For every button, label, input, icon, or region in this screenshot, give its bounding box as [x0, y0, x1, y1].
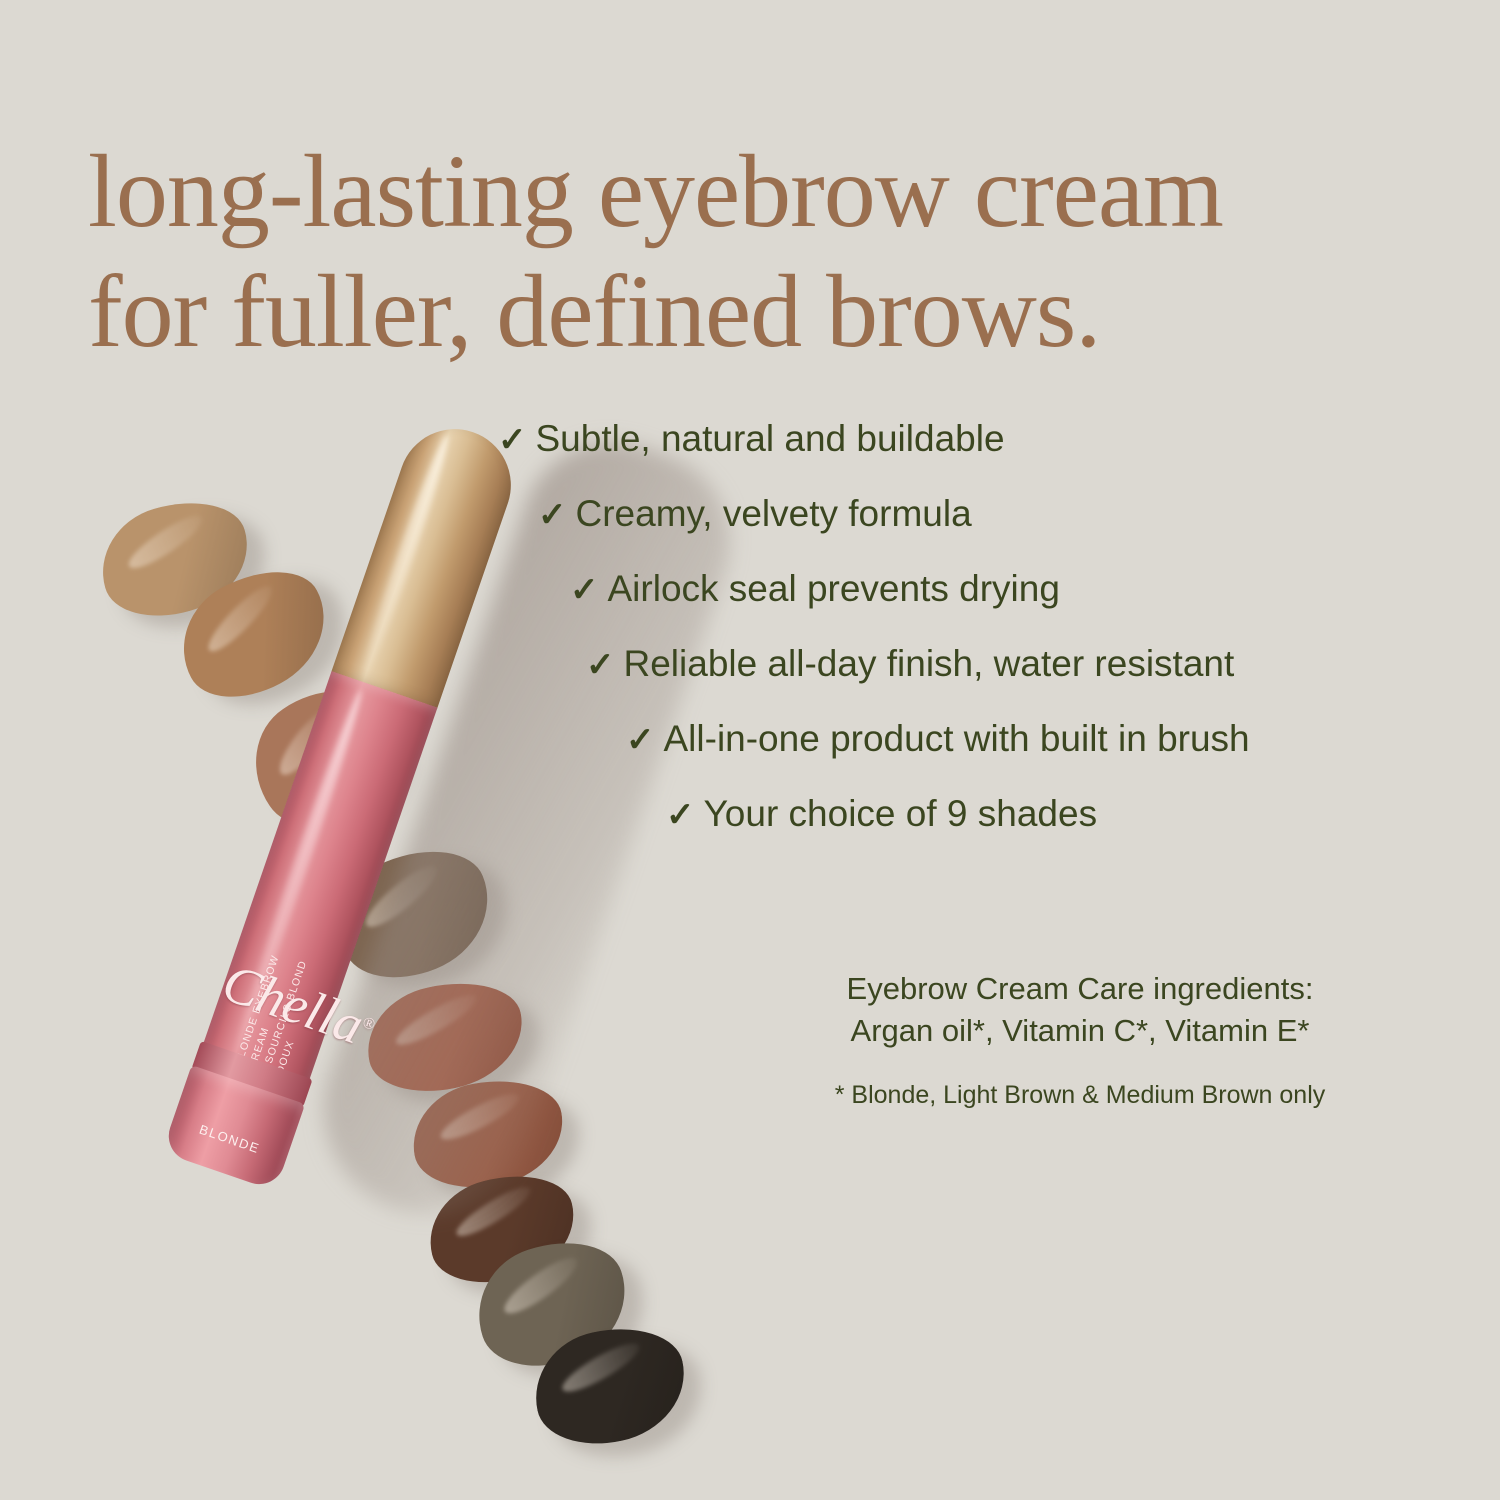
- list-item: ✓ All-in-one product with built in brush: [626, 720, 1458, 795]
- check-icon: ✓: [538, 498, 567, 532]
- page-title: long-lasting eyebrow cream for fuller, d…: [88, 132, 1468, 372]
- list-item: ✓ Reliable all-day finish, water resista…: [586, 645, 1458, 720]
- list-item: ✓ Your choice of 9 shades: [666, 795, 1458, 870]
- ingredients-line-2: Argan oil*, Vitamin C*, Vitamin E*: [740, 1010, 1420, 1052]
- ingredients-line-1: Eyebrow Cream Care ingredients:: [740, 968, 1420, 1010]
- list-item: ✓ Airlock seal prevents drying: [570, 570, 1458, 645]
- list-item: ✓ Subtle, natural and buildable: [498, 420, 1458, 495]
- headline-line-2: for fuller, defined brows.: [88, 252, 1468, 372]
- feature-label: Subtle, natural and buildable: [536, 420, 1005, 457]
- check-icon: ✓: [626, 723, 655, 757]
- ingredients-footnote: * Blonde, Light Brown & Medium Brown onl…: [740, 1078, 1420, 1112]
- headline-line-1: long-lasting eyebrow cream: [88, 132, 1468, 252]
- feature-label: Airlock seal prevents drying: [608, 570, 1060, 607]
- feature-list: ✓ Subtle, natural and buildable ✓ Creamy…: [498, 420, 1458, 870]
- list-item: ✓ Creamy, velvety formula: [538, 495, 1458, 570]
- feature-label: All-in-one product with built in brush: [664, 720, 1250, 757]
- shade-label: BLONDE: [171, 1112, 289, 1165]
- feature-label: Reliable all-day finish, water resistant: [624, 645, 1235, 682]
- check-icon: ✓: [498, 423, 527, 457]
- check-icon: ✓: [666, 798, 695, 832]
- ingredients-block: Eyebrow Cream Care ingredients: Argan oi…: [740, 968, 1420, 1112]
- feature-label: Your choice of 9 shades: [704, 795, 1098, 832]
- check-icon: ✓: [586, 648, 615, 682]
- feature-label: Creamy, velvety formula: [576, 495, 972, 532]
- check-icon: ✓: [570, 573, 599, 607]
- product-marketing-image: Chella® BEAUTIFUL BLONDE EYEBROW CREAM C…: [0, 0, 1500, 1500]
